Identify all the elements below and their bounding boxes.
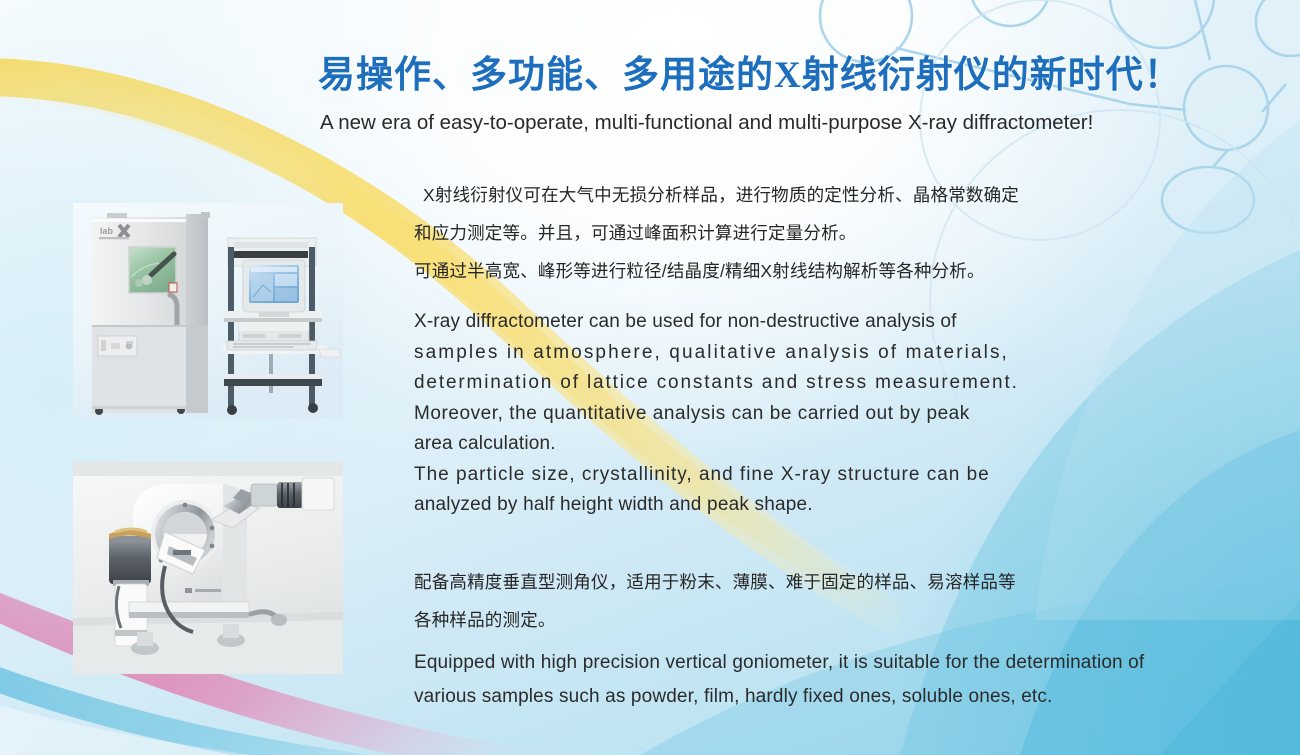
paragraph-english-2: Equipped with high precision vertical go…	[414, 646, 1174, 714]
paragraph-chinese-1-line-3: 可通过半高宽、峰形等进行粒径/结晶度/精细X射线结构解析等各种分析。	[414, 252, 1174, 290]
page-title-chinese: 易操作、多功能、多用途的X射线衍射仪的新时代！	[318, 52, 1188, 100]
headline-block: 易操作、多功能、多用途的X射线衍射仪的新时代！ A new era of eas…	[318, 52, 1188, 136]
paragraph-english-1: X-ray diffractometer can be used for non…	[414, 307, 1174, 521]
body-text-block: X射线衍射仪可在大气中无损分析样品，进行物质的定性分析、晶格常数确定 和应力测定…	[414, 176, 1174, 714]
paragraph-chinese-1: X射线衍射仪可在大气中无损分析样品，进行物质的定性分析、晶格常数确定 和应力测定…	[414, 176, 1174, 290]
paragraph-chinese-1-line-2: 和应力测定等。并且，可通过峰面积计算进行定量分析。	[414, 214, 1174, 252]
paragraph-english-2-line-1: Equipped with high precision vertical go…	[414, 652, 968, 673]
paragraph-chinese-2: 配备高精度垂直型测角仪，适用于粉末、薄膜、难于固定的样品、易溶样品等 各种样品的…	[414, 563, 1174, 639]
spacer	[414, 639, 1174, 646]
paragraph-english-1-line-2: samples in atmosphere, qualitative analy…	[414, 338, 1174, 369]
paragraph-english-2-line-3: fixed ones, soluble ones, etc.	[803, 686, 1053, 707]
svg-text:lab: lab	[100, 226, 114, 236]
paragraph-english-1-line-6: The particle size, crystallinity, and fi…	[414, 460, 1174, 491]
paragraph-chinese-1-line-1: X射线衍射仪可在大气中无损分析样品，进行物质的定性分析、晶格常数确定	[414, 176, 1174, 214]
paragraph-chinese-2-line-1: 配备高精度垂直型测角仪，适用于粉末、薄膜、难于固定的样品、易溶样品等	[414, 563, 1174, 601]
paragraph-english-1-line-1: X-ray diffractometer can be used for non…	[414, 307, 1174, 338]
paragraph-english-1-line-5: area calculation.	[414, 429, 1174, 460]
photo-x-ray-diffractometer: lab	[73, 203, 343, 418]
page-title-english: A new era of easy-to-operate, multi-func…	[320, 110, 1188, 136]
paragraph-english-1-line-3: determination of lattice constants and s…	[414, 368, 1174, 399]
spacer	[414, 521, 1174, 563]
paragraph-english-1-line-4: Moreover, the quantitative analysis can …	[414, 399, 1174, 430]
paragraph-chinese-2-line-2: 各种样品的测定。	[414, 601, 1174, 639]
spacer	[414, 290, 1174, 307]
promotional-page: lab	[0, 0, 1300, 755]
photo-vertical-goniometer	[73, 462, 343, 674]
paragraph-english-1-line-7: analyzed by half height width and peak s…	[414, 490, 1174, 521]
